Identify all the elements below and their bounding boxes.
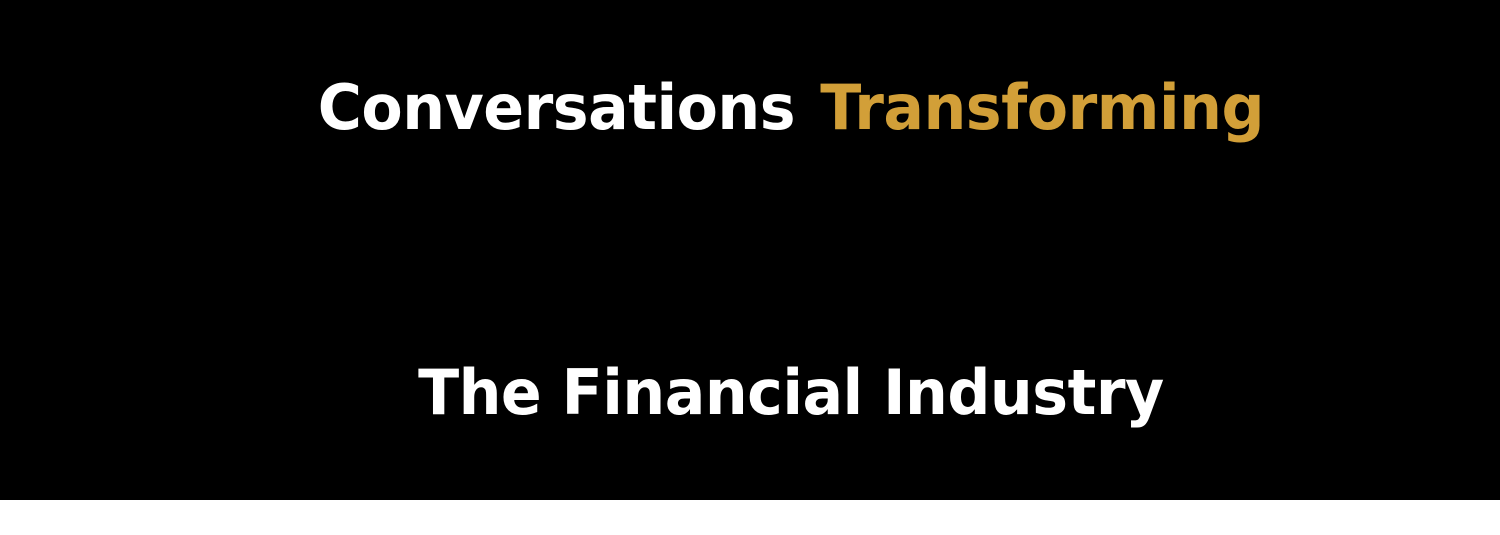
headline-line-2: The Financial Industry (23, 250, 1478, 535)
promo-banner: ConversationsTransforming The Financial … (0, 0, 1500, 500)
headline-word-conversations: Conversations (318, 71, 795, 144)
headline-text-financial-industry: The Financial Industry (418, 356, 1164, 429)
headline-line-1: ConversationsTransforming (23, 0, 1478, 250)
headline-word-transforming: Transforming (820, 71, 1264, 144)
